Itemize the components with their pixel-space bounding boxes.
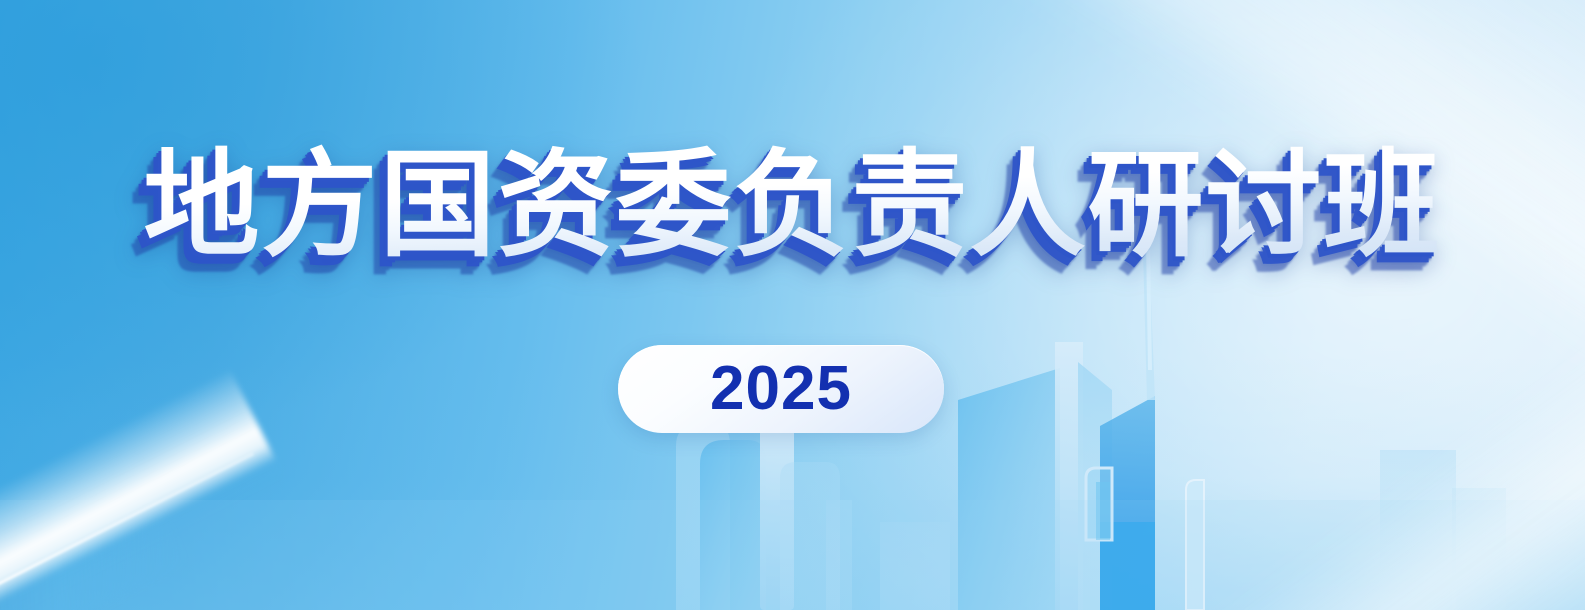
year-badge: 2025 [618, 345, 944, 433]
conference-banner: 地方国资委负责人研讨班 2025 [0, 0, 1585, 610]
title-block: 地方国资委负责人研讨班 [0, 143, 1585, 268]
skyline-haze [0, 500, 1585, 610]
year-label: 2025 [710, 358, 852, 420]
banner-title: 地方国资委负责人研讨班 [144, 143, 1442, 268]
